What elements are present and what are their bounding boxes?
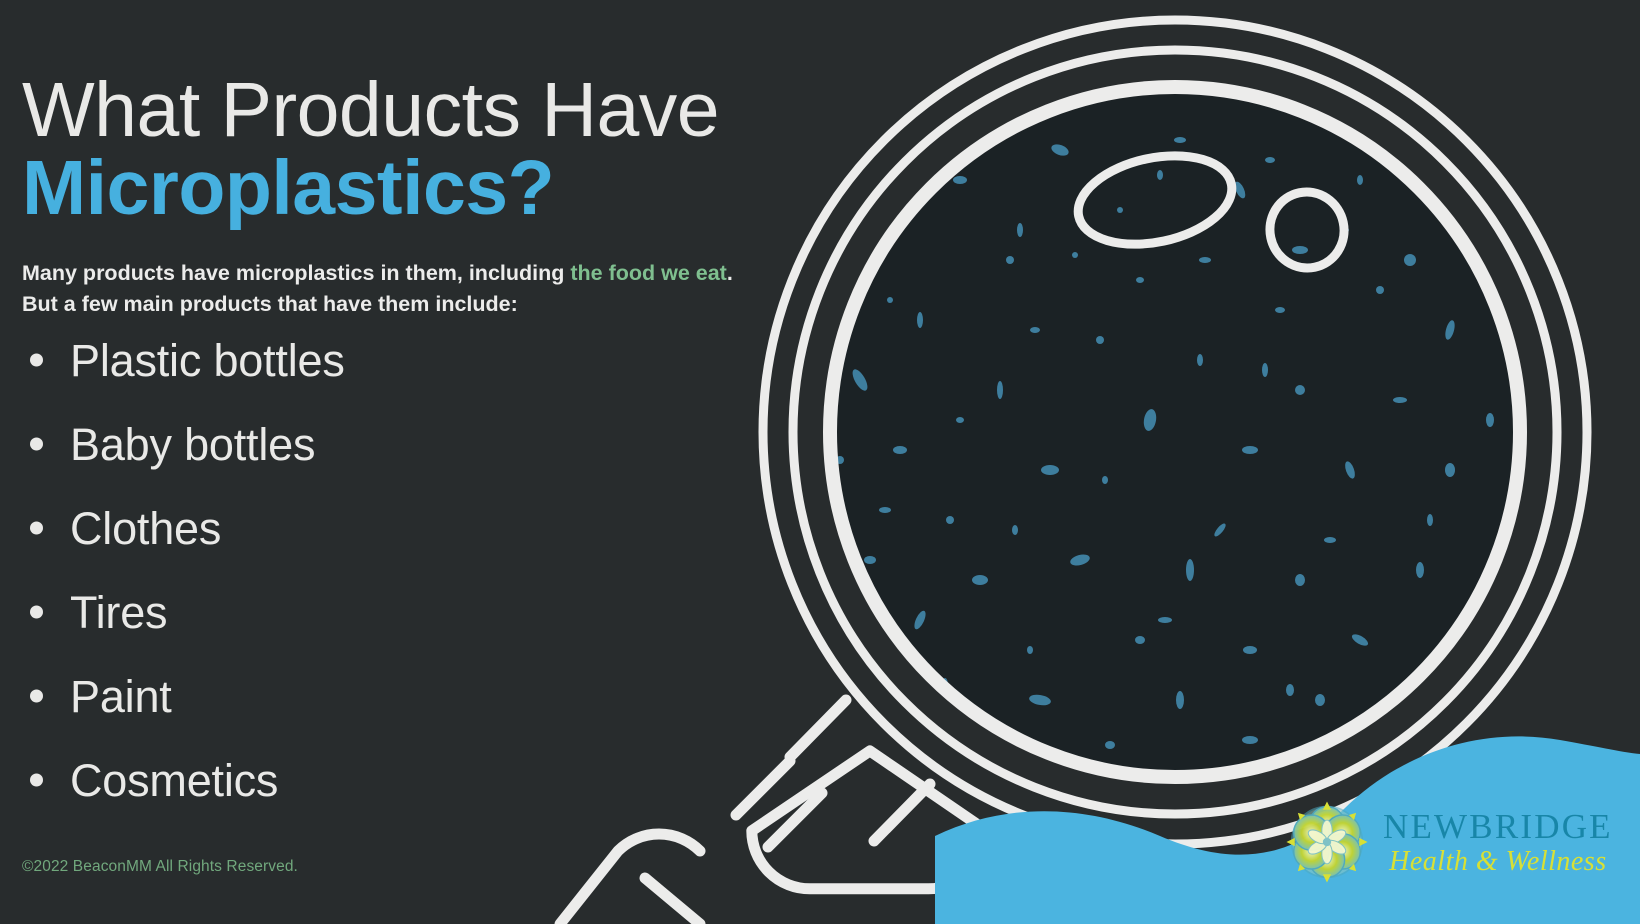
list-item-label: Paint (70, 674, 172, 719)
logo-wordmark: NEWBRIDGE Health & Wellness (1383, 809, 1613, 876)
bullet-dot-icon (30, 438, 43, 451)
lens-highlight-large (1070, 143, 1240, 258)
bullet-dot-icon (30, 606, 43, 619)
bullet-dot-icon (30, 774, 43, 787)
logo-name: NEWBRIDGE (1383, 809, 1613, 844)
lens-glass (830, 87, 1520, 777)
mandala-flower-icon (1275, 790, 1379, 894)
copyright-notice: ©2022 BeaconMM All Rights Reserved. (22, 858, 298, 876)
bullet-dot-icon (30, 690, 43, 703)
bullet-dot-icon (30, 522, 43, 535)
list-item: Paint (0, 654, 345, 738)
list-item-label: Cosmetics (70, 758, 278, 803)
list-item: Cosmetics (0, 738, 345, 822)
list-item-label: Plastic bottles (70, 338, 345, 383)
subtitle-text: Many products have microplastics in them… (22, 258, 762, 320)
title-line-two: Microplastics? (22, 151, 902, 226)
lens-middle-ring (793, 50, 1557, 814)
list-item: Tires (0, 570, 345, 654)
product-list: Plastic bottles Baby bottles Clothes Tir… (0, 318, 345, 822)
microplastic-speckles (822, 137, 1494, 773)
list-item: Baby bottles (0, 402, 345, 486)
brand-logo: NEWBRIDGE Health & Wellness (1275, 782, 1625, 902)
subtitle-part-one: Many products have microplastics in them… (22, 261, 570, 285)
content-column: What Products Have Microplastics? Many p… (0, 0, 790, 924)
infographic-poster: What Products Have Microplastics? Many p… (0, 0, 1640, 924)
page-title: What Products Have Microplastics? (22, 73, 902, 226)
list-item-label: Baby bottles (70, 422, 315, 467)
logo-tagline: Health & Wellness (1383, 848, 1613, 876)
list-item: Plastic bottles (0, 318, 345, 402)
lens-inner-ring (830, 87, 1520, 777)
list-item-label: Clothes (70, 506, 221, 551)
list-item: Clothes (0, 486, 345, 570)
lens-highlight-small (1263, 185, 1351, 275)
subtitle-highlight: the food we eat (570, 261, 726, 285)
title-line-one: What Products Have (22, 73, 902, 148)
list-item-label: Tires (70, 590, 167, 635)
bullet-dot-icon (30, 354, 43, 367)
